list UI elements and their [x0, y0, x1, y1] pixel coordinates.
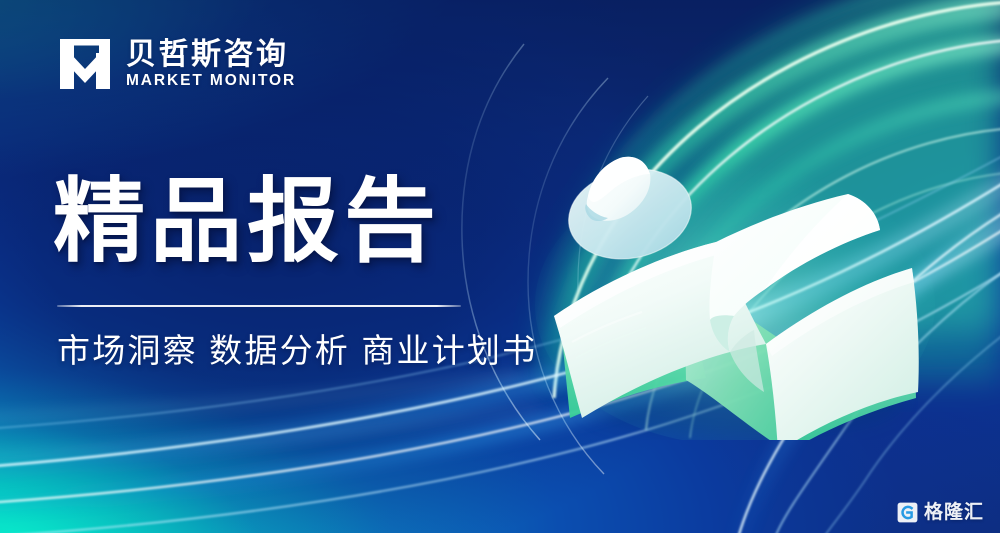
haze-bands	[0, 374, 540, 456]
brand-logo[interactable]: 贝哲斯咨询 MARKET MONITOR	[57, 36, 296, 92]
green-ribbons	[536, 0, 1000, 438]
disc-badge	[560, 158, 700, 270]
page-title: 精品报告	[53, 176, 441, 270]
open-book-illustration	[520, 130, 950, 440]
watermark-text: 格隆汇	[924, 503, 984, 522]
page-edge-highlights	[572, 312, 646, 358]
brand-name-en: MARKET MONITOR	[126, 73, 296, 89]
brand-name-cn: 贝哲斯咨询	[126, 40, 296, 70]
gelonghui-g-logo-icon	[897, 502, 918, 523]
title-divider	[57, 305, 461, 307]
page-subtitle: 市场洞察 数据分析 商业计划书	[57, 330, 537, 371]
right-blue-arcs	[738, 198, 1000, 533]
market-monitor-m-logo-icon	[57, 36, 113, 92]
report-cover-banner: 贝哲斯咨询 MARKET MONITOR 精品报告 市场洞察 数据分析 商业计划…	[0, 0, 1000, 533]
green-glow-mass	[540, 0, 1000, 380]
thin-arc-lines	[462, 44, 648, 474]
bookmark-tile	[587, 157, 651, 221]
watermark: 格隆汇	[897, 502, 984, 523]
